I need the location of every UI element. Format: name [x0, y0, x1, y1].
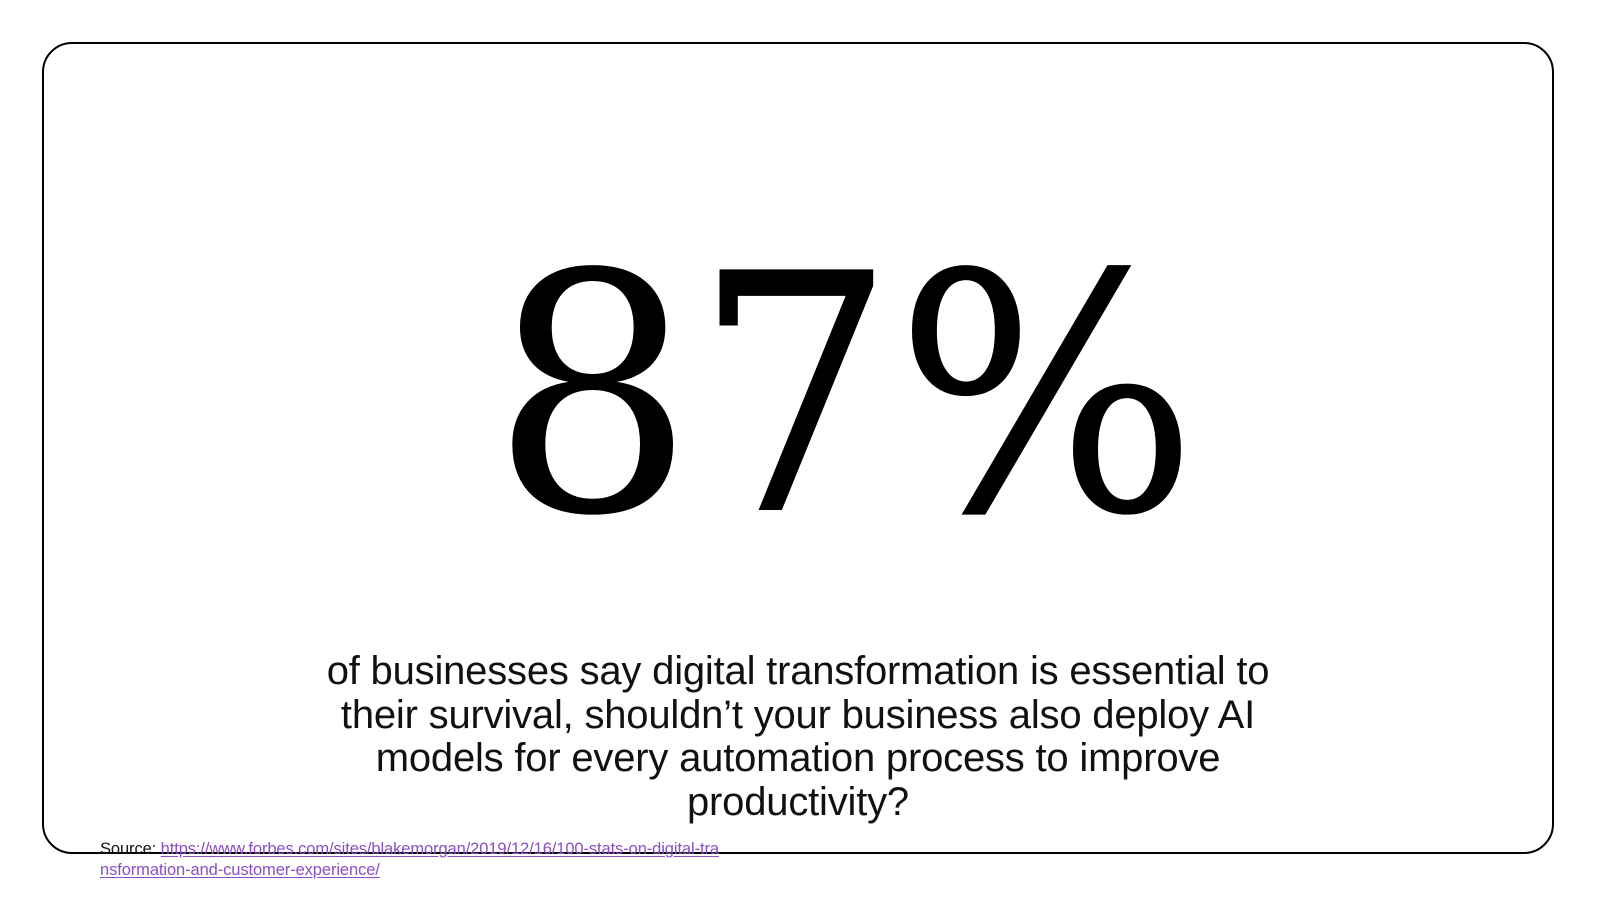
- source-note: Source: https://www.forbes.com/sites/bla…: [100, 839, 720, 880]
- source-link[interactable]: https://www.forbes.com/sites/blakemorgan…: [100, 840, 719, 879]
- statistic-block: 87%: [44, 240, 1600, 554]
- rounded-card-frame: 87% of businesses say digital transforma…: [42, 42, 1554, 854]
- statistic-value: 87%: [491, 240, 1197, 554]
- statistic-description: of businesses say digital transformation…: [318, 650, 1278, 824]
- source-label: Source:: [100, 840, 156, 858]
- slide-canvas: 87% of businesses say digital transforma…: [0, 0, 1600, 900]
